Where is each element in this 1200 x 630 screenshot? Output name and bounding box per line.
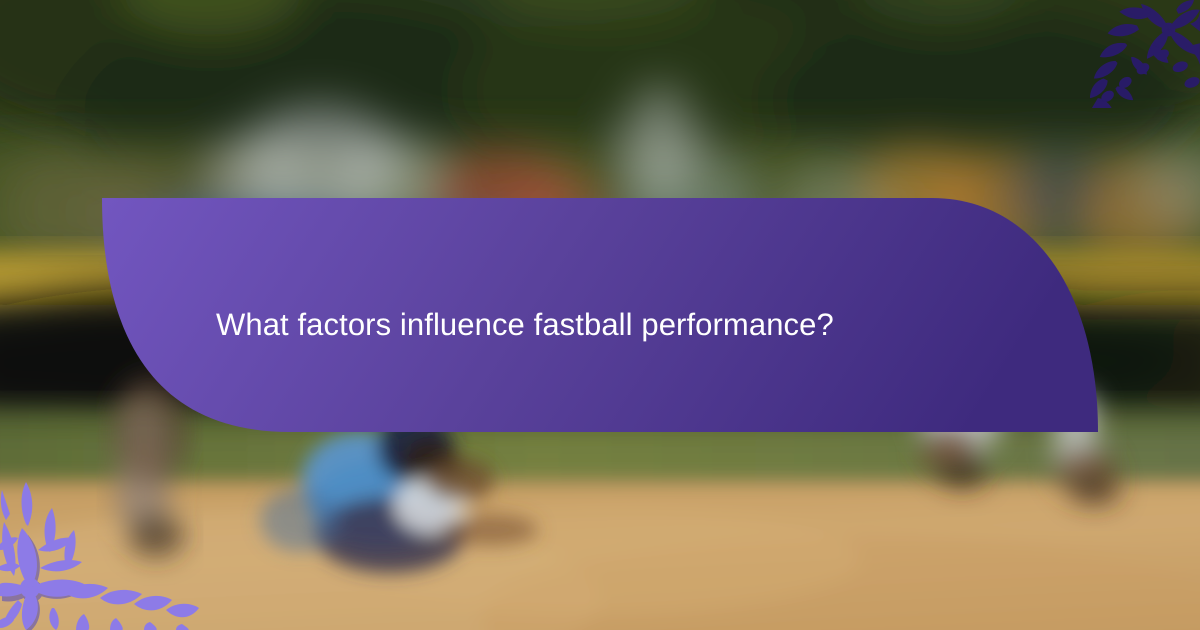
banner-card: What factors influence fastball performa…: [0, 0, 1200, 630]
headline-text: What factors influence fastball performa…: [216, 306, 1016, 345]
